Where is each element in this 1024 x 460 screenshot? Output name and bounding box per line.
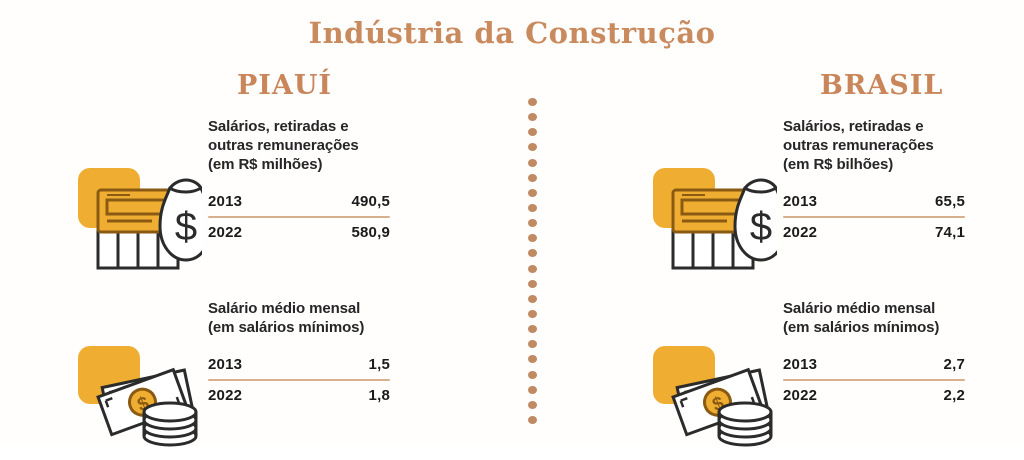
divider-dot <box>528 249 537 257</box>
stat-row: 2022 2,2 <box>783 381 965 410</box>
stat-row: 2013 65,5 <box>783 187 965 216</box>
stat-value: 1,8 <box>369 387 390 404</box>
divider-dot <box>528 386 537 394</box>
stat-year: 2013 <box>208 356 242 373</box>
panel-caption: Salário médio mensal (em salários mínimo… <box>783 300 973 338</box>
stat-value: 65,5 <box>935 193 965 210</box>
stat-row: 2022 1,8 <box>208 381 390 410</box>
stat-year: 2013 <box>208 193 242 210</box>
stat-value: 580,9 <box>351 224 390 241</box>
svg-text:$: $ <box>750 205 772 249</box>
divider-dot <box>528 174 537 182</box>
stat-year: 2022 <box>208 387 242 404</box>
divider-dot <box>528 295 537 303</box>
divider-dot <box>528 280 537 288</box>
page-title: Indústria da Construção <box>0 16 1024 50</box>
money-bag-banknotes-icon: $ <box>645 164 777 274</box>
svg-text:$: $ <box>175 205 197 249</box>
divider-dot <box>528 204 537 212</box>
panel-caption: Salários, retiradas e outras remuneraçõe… <box>783 118 973 175</box>
divider-dot <box>528 265 537 273</box>
infographic-canvas: Indústria da Construção PIAUÍ BRASIL <box>0 0 1024 445</box>
divider-dot <box>528 143 537 151</box>
divider-dot <box>528 234 537 242</box>
divider-dot <box>528 189 537 197</box>
panel-caption: Salários, retiradas e outras remuneraçõe… <box>208 118 398 175</box>
panel-brasil-salarios: $ Salários, retiradas e outras remuneraç… <box>645 118 985 278</box>
stat-year: 2022 <box>208 224 242 241</box>
divider-dot <box>528 355 537 363</box>
stat-value: 490,5 <box>351 193 390 210</box>
divider-dot <box>528 159 537 167</box>
stat-year: 2022 <box>783 224 817 241</box>
stat-year: 2022 <box>783 387 817 404</box>
stat-year: 2013 <box>783 356 817 373</box>
divider-dot <box>528 371 537 379</box>
divider-dot <box>528 416 537 424</box>
stat-year: 2013 <box>783 193 817 210</box>
panel-brasil-salario-medio: $ $ <box>645 300 985 460</box>
divider-dot <box>528 310 537 318</box>
stat-row: 2013 2,7 <box>783 350 965 379</box>
divider-dot <box>528 128 537 136</box>
stat-value: 2,7 <box>944 356 965 373</box>
panel-caption: Salário médio mensal (em salários mínimo… <box>208 300 398 338</box>
stat-value: 1,5 <box>369 356 390 373</box>
stat-value: 74,1 <box>935 224 965 241</box>
banknotes-coins-icon: $ $ <box>70 340 202 450</box>
divider-dot <box>528 219 537 227</box>
divider-dot <box>528 340 537 348</box>
divider-dot <box>528 98 537 106</box>
divider-dot <box>528 325 537 333</box>
banknotes-coins-icon: $ $ <box>645 340 777 450</box>
stat-row: 2013 1,5 <box>208 350 390 379</box>
divider-dot <box>528 113 537 121</box>
money-bag-banknotes-icon: $ <box>70 164 202 274</box>
divider-dot <box>528 401 537 409</box>
stat-row: 2013 490,5 <box>208 187 390 216</box>
stat-row: 2022 580,9 <box>208 218 390 247</box>
region-heading-piaui: PIAUÍ <box>237 70 332 101</box>
panel-piaui-salarios: $ Salários, retiradas e outras remuneraç… <box>70 118 410 278</box>
vertical-dotted-divider <box>528 98 537 424</box>
region-heading-brasil: BRASIL <box>820 70 943 101</box>
stat-row: 2022 74,1 <box>783 218 965 247</box>
panel-piaui-salario-medio: $ $ <box>70 300 410 460</box>
stat-value: 2,2 <box>944 387 965 404</box>
